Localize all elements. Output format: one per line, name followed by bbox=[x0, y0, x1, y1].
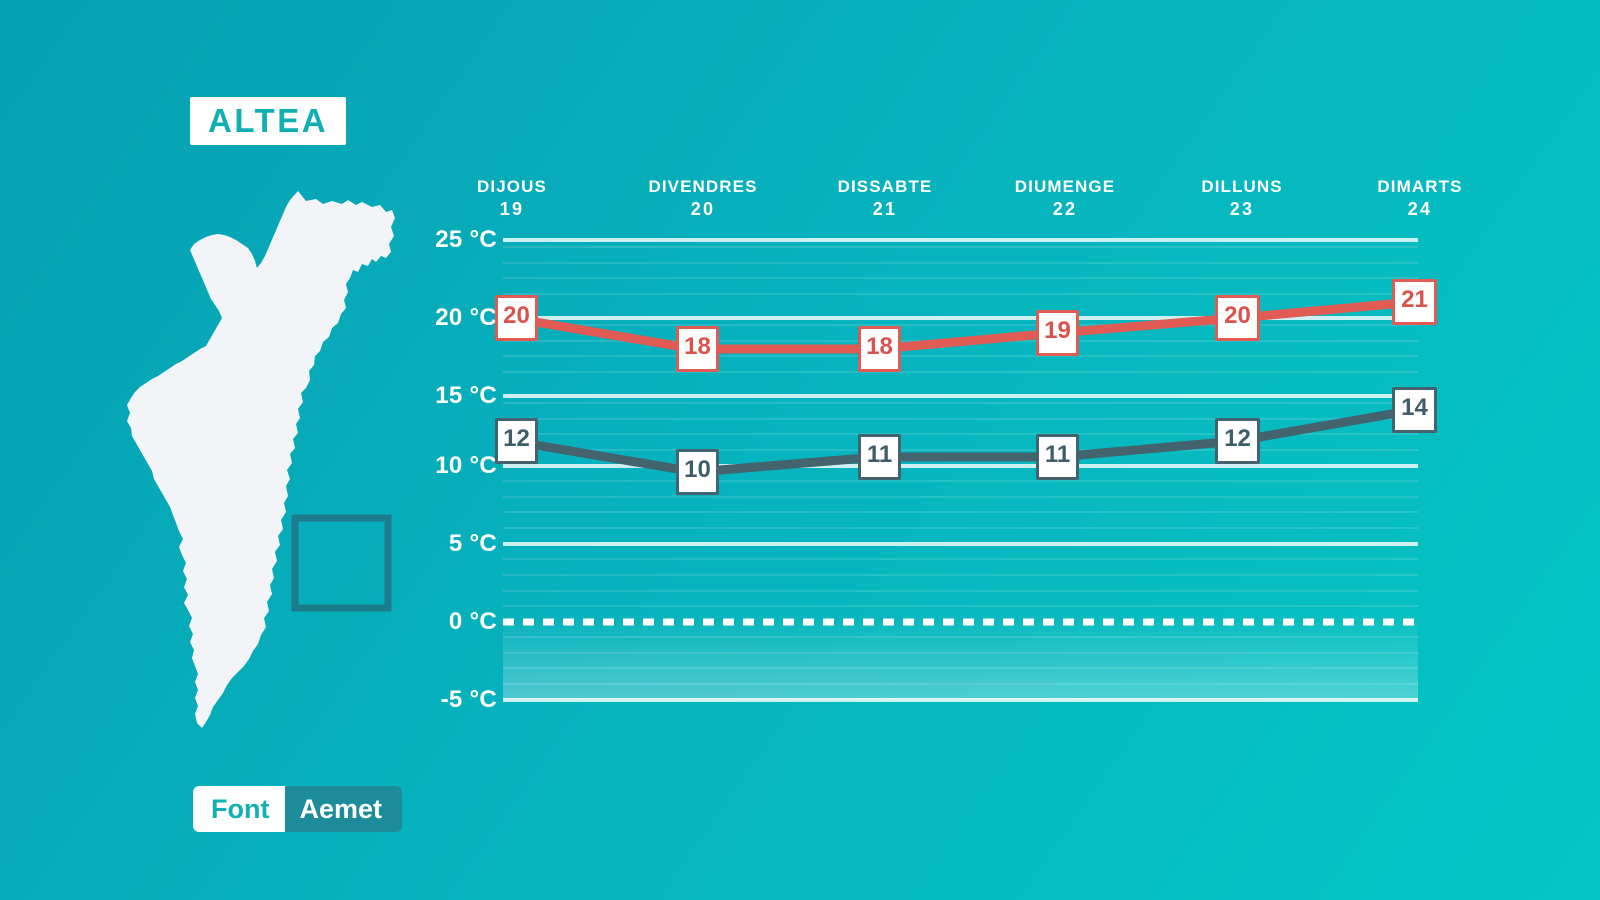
max-temp-badge-2: 18 bbox=[858, 326, 901, 372]
y-axis-tick-0: 0 °C bbox=[449, 608, 497, 636]
min-temp-badge-4: 12 bbox=[1215, 418, 1260, 464]
day-header-5: DIMARTS 24 bbox=[1310, 178, 1530, 220]
y-axis: 25 °C 20 °C 15 °C 10 °C 5 °C 0 °C -5 °C bbox=[0, 0, 497, 900]
y-axis-tick-10: 10 °C bbox=[435, 452, 497, 480]
source-badge: Font Aemet bbox=[193, 786, 402, 832]
day-name: DIMARTS bbox=[1310, 178, 1530, 196]
y-axis-tick-minus5: -5 °C bbox=[441, 686, 497, 714]
source-name: Aemet bbox=[285, 786, 402, 832]
max-temp-badge-0: 20 bbox=[495, 295, 538, 341]
max-temp-badge-5: 21 bbox=[1392, 279, 1437, 325]
source-label: Font bbox=[193, 786, 285, 832]
min-temp-badge-3: 11 bbox=[1036, 434, 1079, 480]
day-number: 24 bbox=[1310, 199, 1530, 220]
max-temp-badge-1: 18 bbox=[676, 326, 719, 372]
y-axis-tick-20: 20 °C bbox=[435, 304, 497, 332]
y-axis-tick-5: 5 °C bbox=[449, 530, 497, 558]
y-axis-tick-25: 25 °C bbox=[435, 226, 497, 254]
y-axis-tick-15: 15 °C bbox=[435, 382, 497, 410]
subzero-band bbox=[503, 622, 1418, 700]
max-temp-badge-4: 20 bbox=[1215, 295, 1260, 341]
min-temp-badge-2: 11 bbox=[858, 434, 901, 480]
min-temp-badge-0: 12 bbox=[495, 418, 538, 464]
max-temp-badge-3: 19 bbox=[1036, 310, 1079, 356]
min-temp-badge-5: 14 bbox=[1392, 387, 1437, 433]
weather-forecast-panel: ALTEA bbox=[0, 0, 1600, 900]
min-temp-badge-1: 10 bbox=[676, 449, 719, 495]
